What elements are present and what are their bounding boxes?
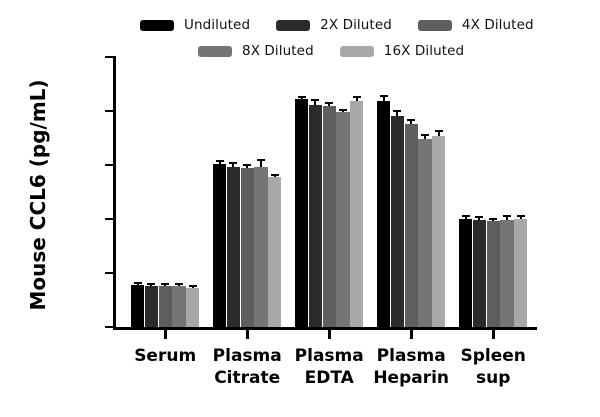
error-bar-stem xyxy=(424,136,426,139)
error-bar-cap xyxy=(407,119,415,121)
error-bar-stem xyxy=(192,287,194,288)
bar xyxy=(227,167,240,327)
error-bar-cap xyxy=(462,215,470,217)
y-tick-mark xyxy=(105,110,113,112)
error-bar-cap xyxy=(147,283,155,285)
x-tick-mark xyxy=(492,330,495,339)
error-bar-stem xyxy=(328,104,330,105)
error-bar-cap xyxy=(298,96,306,98)
error-bar-cap xyxy=(175,283,183,285)
error-bar-cap xyxy=(325,102,333,104)
y-tick-mark xyxy=(105,164,113,166)
error-bar-stem xyxy=(137,284,139,285)
x-category-label-line: sup xyxy=(443,367,543,389)
error-bar-cap xyxy=(380,95,388,97)
error-bar-stem xyxy=(383,97,385,102)
bar xyxy=(514,219,527,327)
bar xyxy=(350,101,363,327)
x-category-label-line: Spleen xyxy=(443,345,543,367)
x-tick-mark xyxy=(164,330,167,339)
legend-swatch-icon xyxy=(340,46,374,57)
error-bar-stem xyxy=(219,162,221,164)
bar xyxy=(186,288,199,327)
error-bar-cap xyxy=(435,130,443,132)
legend-swatch-icon xyxy=(418,20,452,31)
error-bar-cap xyxy=(161,283,169,285)
error-bar-stem xyxy=(150,285,152,286)
bar xyxy=(473,220,486,327)
bar xyxy=(459,219,472,327)
bar xyxy=(309,105,322,327)
bar xyxy=(336,112,349,327)
x-tick-mark xyxy=(328,330,331,339)
error-bar-cap xyxy=(475,216,483,218)
error-bar-stem xyxy=(465,217,467,219)
x-axis-line xyxy=(113,327,537,330)
y-tick-mark xyxy=(105,326,113,328)
error-bar-stem xyxy=(520,217,522,219)
legend-label: Undiluted xyxy=(184,17,250,33)
legend-swatch-icon xyxy=(276,20,310,31)
legend-entry-undiluted[interactable]: Undiluted xyxy=(140,17,250,33)
bar xyxy=(172,286,185,327)
bar xyxy=(268,177,281,327)
legend-row-primary: Undiluted2X Diluted4X Diluted xyxy=(140,12,560,38)
error-bar-stem xyxy=(232,164,234,168)
error-bar-cap xyxy=(503,215,511,217)
error-bar-stem xyxy=(246,166,248,168)
bar xyxy=(323,106,336,327)
bar xyxy=(254,167,267,327)
bar xyxy=(432,136,445,327)
legend-swatch-icon xyxy=(198,46,232,57)
error-bar-stem xyxy=(314,101,316,105)
error-bar-cap xyxy=(189,285,197,287)
error-bar-stem xyxy=(356,98,358,102)
x-category-label: Spleensup xyxy=(443,345,543,389)
error-bar-cap xyxy=(216,160,224,162)
bar xyxy=(159,286,172,327)
bar-chart-figure: Undiluted2X Diluted4X Diluted 8X Diluted… xyxy=(0,0,600,417)
legend-swatch-icon xyxy=(140,20,174,31)
bar xyxy=(487,221,500,327)
bar xyxy=(241,168,254,327)
error-bar-stem xyxy=(396,112,398,116)
legend-entry-4x-diluted[interactable]: 4X Diluted xyxy=(418,17,534,33)
x-tick-mark xyxy=(410,330,413,339)
error-bar-cap xyxy=(421,134,429,136)
error-bar-stem xyxy=(260,161,262,167)
error-bar-cap xyxy=(489,218,497,220)
error-bar-stem xyxy=(301,98,303,100)
error-bar-cap xyxy=(339,109,347,111)
bar xyxy=(377,101,390,327)
error-bar-stem xyxy=(342,111,344,112)
legend-label: 2X Diluted xyxy=(320,17,392,33)
x-tick-mark xyxy=(246,330,249,339)
error-bar-stem xyxy=(164,285,166,286)
error-bar-cap xyxy=(517,215,525,217)
bar xyxy=(405,124,418,327)
bar xyxy=(500,220,513,327)
error-bar-cap xyxy=(311,99,319,101)
legend-entry-2x-diluted[interactable]: 2X Diluted xyxy=(276,17,392,33)
error-bar-cap xyxy=(243,164,251,166)
error-bar-cap xyxy=(257,159,265,161)
bar xyxy=(145,286,158,327)
error-bar-cap xyxy=(134,282,142,284)
bar xyxy=(391,116,404,327)
y-axis-title: Mouse CCL6 (pg/mL) xyxy=(26,50,50,340)
y-axis-line xyxy=(113,56,116,328)
bar xyxy=(213,164,226,327)
y-tick-mark xyxy=(105,218,113,220)
error-bar-stem xyxy=(478,218,480,220)
error-bar-stem xyxy=(438,132,440,135)
error-bar-stem xyxy=(274,176,276,177)
y-tick-mark xyxy=(105,272,113,274)
bar xyxy=(418,139,431,327)
error-bar-cap xyxy=(229,162,237,164)
y-tick-mark xyxy=(105,56,113,58)
legend-label: 4X Diluted xyxy=(462,17,534,33)
error-bar-cap xyxy=(271,174,279,176)
error-bar-stem xyxy=(492,220,494,221)
plot-area: 0500010000150002000025000 SerumPlasmaCit… xyxy=(113,57,537,327)
error-bar-stem xyxy=(178,285,180,286)
bar xyxy=(131,285,144,327)
error-bar-stem xyxy=(506,217,508,220)
error-bar-cap xyxy=(353,96,361,98)
bar xyxy=(295,99,308,327)
error-bar-stem xyxy=(410,121,412,124)
error-bar-cap xyxy=(393,110,401,112)
